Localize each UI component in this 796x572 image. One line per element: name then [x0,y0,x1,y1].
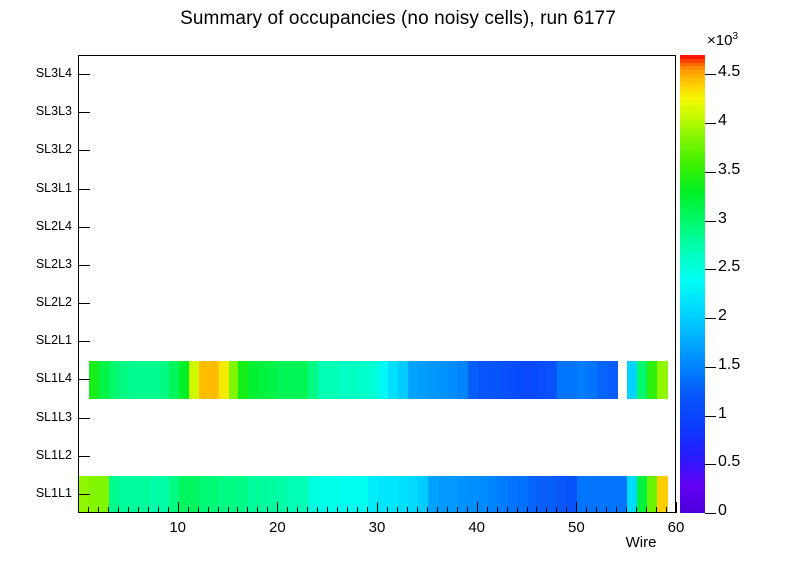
heatmap-cell [378,361,388,399]
heatmap-cell [338,361,348,399]
heatmap-cell [537,361,547,399]
x-axis-minor-tick [307,507,308,513]
heatmap-cell [298,361,308,399]
color-bar-tick [705,464,716,465]
heatmap-cell [627,361,637,399]
heatmap-cell [547,361,557,399]
x-axis-minor-tick [118,507,119,513]
plot-frame [78,55,676,513]
x-axis-major-tick [277,502,278,513]
y-axis-label-sl3l3: SL3L3 [0,104,72,118]
x-axis-minor-tick [218,507,219,513]
heatmap-cell [528,361,538,399]
heatmap-cell [458,361,468,399]
x-axis-major-tick [676,502,677,513]
y-axis-tick [78,494,90,495]
x-axis-minor-tick [407,507,408,513]
y-axis-tick [78,303,90,304]
color-bar-tick-label: 0 [718,502,727,520]
x-axis-major-tick [178,502,179,513]
x-axis-minor-tick [198,507,199,513]
y-axis-tick [78,227,90,228]
x-axis-minor-tick [88,507,89,513]
heatmap-cell [478,361,488,399]
heatmap-cell [169,361,179,399]
heatmap-row-sl1l3 [79,400,675,438]
color-bar-tick [705,367,716,368]
color-bar-segment [680,509,705,513]
color-bar-exponent-power: 3 [732,31,738,42]
x-axis-minor-tick [98,507,99,513]
heatmap-cell [129,361,139,399]
heatmap-cell [119,361,129,399]
heatmap-cell [577,361,587,399]
x-axis-major-tick [477,502,478,513]
chart-canvas: Summary of occupancies (no noisy cells),… [0,0,796,572]
x-axis-minor-tick [208,507,209,513]
x-axis-minor-tick [337,507,338,513]
x-axis-minor-tick [507,507,508,513]
x-axis-minor-tick [417,507,418,513]
x-axis-minor-tick [527,507,528,513]
x-axis-minor-tick [317,507,318,513]
x-axis-minor-tick [536,507,537,513]
x-axis-title: Wire [596,534,686,551]
x-axis-major-tick [576,502,577,513]
x-axis-minor-tick [237,507,238,513]
y-axis-label-sl2l3: SL2L3 [0,257,72,271]
y-axis-label-sl3l1: SL3L1 [0,181,72,195]
color-bar-tick-label: 4.5 [718,63,740,81]
x-axis-minor-tick [487,507,488,513]
x-axis-tick-label: 30 [352,519,402,536]
heatmap-cell [219,361,229,399]
color-bar-tick [705,123,716,124]
color-bar-tick-label: 1.5 [718,356,740,374]
heatmap-row-sl3l2 [79,132,675,170]
heatmap-cell [199,361,209,399]
heatmap-cell [209,361,219,399]
heatmap-cell [398,361,408,399]
y-axis-label-sl3l2: SL3L2 [0,142,72,156]
heatmap-row-sl1l4 [79,361,675,399]
heatmap-cell [368,361,378,399]
heatmap-cell [179,361,189,399]
x-axis-minor-tick [626,507,627,513]
heatmap-row-sl2l1 [79,323,675,361]
x-axis-minor-tick [158,507,159,513]
color-bar-tick [705,221,716,222]
x-axis-minor-tick [367,507,368,513]
heatmap-cell [488,361,498,399]
heatmap-cell [657,361,667,399]
x-axis-minor-tick [148,507,149,513]
x-axis-minor-tick [168,507,169,513]
heatmap-row-sl2l2 [79,285,675,323]
x-axis-minor-tick [297,507,298,513]
y-axis-tick [78,74,90,75]
heatmap-cell [518,361,528,399]
x-axis-minor-tick [646,507,647,513]
y-axis-tick [78,112,90,113]
x-axis-minor-tick [108,507,109,513]
heatmap-cell [258,361,268,399]
heatmap-cell [109,361,119,399]
x-axis-minor-tick [257,507,258,513]
heatmap-cell [448,361,458,399]
heatmap-cell [328,361,338,399]
x-axis-minor-tick [357,507,358,513]
heatmap-cell [189,361,199,399]
heatmap-cell [468,361,478,399]
heatmap-cell [308,361,318,399]
heatmap-cell [567,361,577,399]
y-axis-tick [78,150,90,151]
y-axis-tick [78,341,90,342]
x-axis-minor-tick [546,507,547,513]
color-bar-tick-label: 2 [718,307,727,325]
y-axis-label-sl2l2: SL2L2 [0,295,72,309]
heatmap-cell [637,361,647,399]
x-axis-minor-tick [188,507,189,513]
x-axis-minor-tick [656,507,657,513]
heatmap-row-sl2l4 [79,209,675,247]
x-axis-minor-tick [387,507,388,513]
heatmap-cell [348,361,358,399]
color-bar-tick-label: 3 [718,210,727,228]
x-axis-minor-tick [566,507,567,513]
x-axis-minor-tick [397,507,398,513]
x-axis-minor-tick [616,507,617,513]
y-axis-label-sl2l1: SL2L1 [0,333,72,347]
y-axis-tick [78,418,90,419]
heatmap-cell [149,361,159,399]
y-axis-label-sl3l4: SL3L4 [0,66,72,80]
heatmap-cell [557,361,567,399]
color-bar-tick [705,318,716,319]
color-bar-tick [705,74,716,75]
heatmap-cell [418,361,428,399]
heatmap-row-sl2l3 [79,247,675,285]
x-axis-minor-tick [517,507,518,513]
y-axis-tick [78,456,90,457]
heatmap-row-sl1l2 [79,438,675,476]
color-bar-tick-label: 0.5 [718,453,740,471]
color-bar [680,55,705,513]
x-axis-minor-tick [228,507,229,513]
x-axis-minor-tick [247,507,248,513]
x-axis-minor-tick [497,507,498,513]
x-axis-minor-tick [287,507,288,513]
color-bar-tick-label: 4 [718,112,727,130]
x-axis-minor-tick [267,507,268,513]
y-axis-tick [78,189,90,190]
heatmap-cell [498,361,508,399]
heatmap-cell [428,361,438,399]
color-bar-tick [705,172,716,173]
x-axis-minor-tick [347,507,348,513]
y-axis-tick [78,265,90,266]
y-axis-label-sl2l4: SL2L4 [0,219,72,233]
heatmap-cell [89,361,99,399]
x-axis-tick-label: 20 [252,519,302,536]
y-axis-label-sl1l3: SL1L3 [0,410,72,424]
heatmap-row-sl3l4 [79,56,675,94]
heatmap-cell [647,361,657,399]
x-axis-minor-tick [128,507,129,513]
color-bar-tick [705,416,716,417]
x-axis-major-tick [377,502,378,513]
heatmap-cell [288,361,298,399]
x-axis-minor-tick [666,507,667,513]
x-axis-minor-tick [327,507,328,513]
heatmap-cell [238,361,248,399]
heatmap-cell [587,361,597,399]
x-axis-minor-tick [457,507,458,513]
color-bar-tick [705,513,716,514]
heatmap-row-sl3l1 [79,171,675,209]
heatmap-cell [159,361,169,399]
heatmap-area [79,56,675,512]
x-axis-tick-label: 50 [551,519,601,536]
color-bar-exponent-prefix: ×10 [707,32,732,49]
color-bar-tick-label: 3.5 [718,161,740,179]
heatmap-cell [438,361,448,399]
color-bar-tick-label: 2.5 [718,258,740,276]
heatmap-cell [268,361,278,399]
heatmap-cell [229,361,239,399]
y-axis-label-sl1l2: SL1L2 [0,448,72,462]
heatmap-row-sl3l3 [79,94,675,132]
y-axis-label-sl1l4: SL1L4 [0,371,72,385]
x-axis-minor-tick [427,507,428,513]
color-bar-tick-label: 1 [718,405,727,423]
x-axis-minor-tick [586,507,587,513]
heatmap-cell [388,361,398,399]
x-axis-minor-tick [467,507,468,513]
y-axis-label-sl1l1: SL1L1 [0,486,72,500]
heatmap-cell [139,361,149,399]
x-axis-minor-tick [437,507,438,513]
x-axis-minor-tick [138,507,139,513]
heatmap-cell [408,361,418,399]
heatmap-cell [318,361,328,399]
heatmap-cell [278,361,288,399]
x-axis-minor-tick [596,507,597,513]
x-axis-tick-label: 40 [452,519,502,536]
heatmap-cell [607,361,617,399]
x-axis-minor-tick [556,507,557,513]
y-axis-tick [78,379,90,380]
x-axis-minor-tick [447,507,448,513]
chart-title: Summary of occupancies (no noisy cells),… [0,8,796,30]
x-axis-minor-tick [636,507,637,513]
x-axis-minor-tick [606,507,607,513]
heatmap-cell [508,361,518,399]
color-bar-tick [705,269,716,270]
color-bar-exponent: ×103 [707,31,738,49]
x-axis-tick-label: 10 [153,519,203,536]
heatmap-cell [99,361,109,399]
heatmap-cell [358,361,368,399]
heatmap-cell [248,361,258,399]
heatmap-cell [597,361,607,399]
